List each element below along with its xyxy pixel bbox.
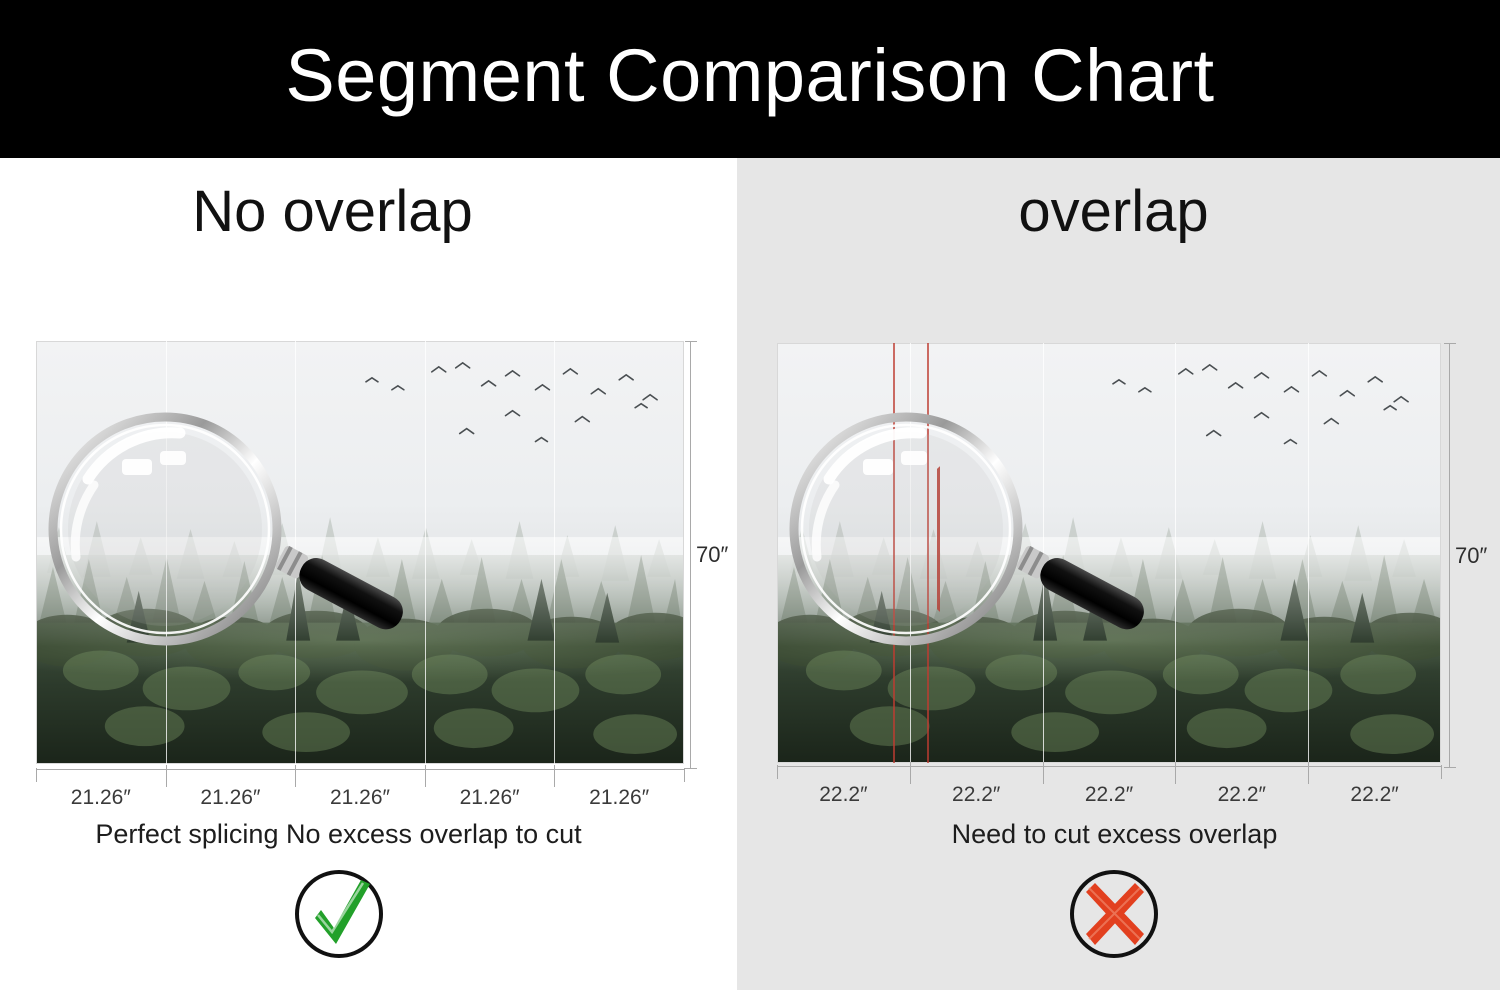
segment-width-label: 21.26″: [295, 785, 425, 810]
segment-width-label: 21.26″: [425, 785, 555, 810]
segment-width-label: 22.2″: [777, 782, 910, 807]
segment-width-label: 22.2″: [1175, 782, 1308, 807]
caption-overlap: Need to cut excess overlap: [737, 818, 1500, 850]
verdict-overlap: [737, 866, 1500, 962]
segment-width-label: 22.2″: [1308, 782, 1441, 807]
mural-preview-overlap: [777, 343, 1441, 763]
panel-no-overlap: No overlap: [0, 158, 737, 990]
mural-preview-no-overlap: [36, 341, 684, 764]
check-circle-icon: [291, 866, 387, 962]
panel-heading-overlap: overlap: [737, 180, 1500, 244]
verdict-no-overlap: [0, 866, 737, 962]
page-title: Segment Comparison Chart: [0, 0, 1500, 158]
panel-heading-no-overlap: No overlap: [0, 180, 737, 244]
width-dimension-line-no-overlap: 21.26″ 21.26″ 21.26″ 21.26″ 21.26″: [36, 769, 684, 791]
segment-width-label: 21.26″: [554, 785, 684, 810]
panel-container: No overlap: [0, 158, 1500, 990]
segment-width-label: 22.2″: [910, 782, 1043, 807]
height-label: 70″: [1455, 543, 1487, 569]
comparison-chart-page: Segment Comparison Chart No overlap: [0, 0, 1500, 990]
segment-width-label: 21.26″: [36, 785, 166, 810]
segment-width-label: 22.2″: [1043, 782, 1176, 807]
forest-photo: [36, 341, 684, 764]
cross-circle-icon: [1066, 866, 1162, 962]
forest-photo: [777, 343, 1441, 763]
caption-no-overlap: Perfect splicing No excess overlap to cu…: [0, 818, 737, 850]
segment-width-label: 21.26″: [166, 785, 296, 810]
panel-overlap: overlap: [737, 158, 1500, 990]
height-label: 70″: [696, 542, 728, 568]
width-dimension-line-overlap: 22.2″ 22.2″ 22.2″ 22.2″ 22.2″: [777, 766, 1441, 788]
title-bar: Segment Comparison Chart: [0, 0, 1500, 158]
